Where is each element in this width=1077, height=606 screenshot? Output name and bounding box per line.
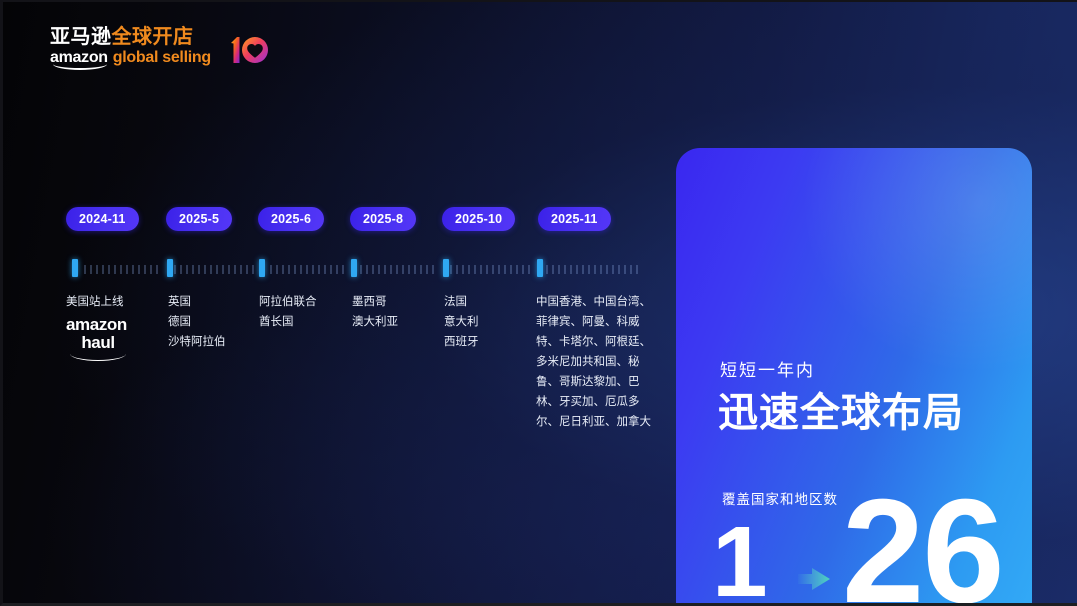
country-item: 美国站上线	[66, 292, 124, 312]
timeline-column-2025-6: 阿拉伯联合 酋长国	[259, 292, 317, 332]
ruler-tick	[498, 265, 500, 274]
timeline-column-2025-5: 英国 德国 沙特阿拉伯	[168, 292, 226, 352]
timeline-badge-2025-8[interactable]: 2025-8	[350, 207, 416, 231]
ruler-tick	[396, 265, 398, 274]
ruler-tick	[600, 265, 602, 274]
ruler-tick	[312, 265, 314, 274]
country-item: 酋长国	[259, 312, 317, 332]
ruler-tick	[486, 265, 488, 274]
arrow-right-svg	[796, 566, 832, 592]
ruler-tick	[414, 265, 416, 274]
timeline-badge-2025-10[interactable]: 2025-10	[442, 207, 515, 231]
ruler-tick	[552, 265, 554, 274]
ruler-tick	[84, 265, 86, 274]
ruler-tick	[318, 265, 320, 274]
ruler-tick	[120, 265, 122, 274]
ruler-tick	[426, 265, 428, 274]
timeline-column-2025-8: 墨西哥 澳大利亚	[352, 292, 398, 332]
ruler-tick	[474, 265, 476, 274]
ruler-tick	[132, 265, 134, 274]
ruler-tick	[594, 265, 596, 274]
arrow-right-icon	[796, 566, 832, 592]
ruler-tick	[210, 265, 212, 274]
country-item: 意大利	[444, 312, 479, 332]
ruler-tick	[300, 265, 302, 274]
ruler-tick	[432, 265, 434, 274]
ruler-tick	[96, 265, 98, 274]
ruler-tick	[618, 265, 620, 274]
ruler-tick	[570, 265, 572, 274]
ruler-tick	[102, 265, 104, 274]
ruler-tick	[564, 265, 566, 274]
timeline-badge-2024-11[interactable]: 2024-11	[66, 207, 139, 231]
ruler-tick	[198, 265, 200, 274]
country-item: 西班牙	[444, 332, 479, 352]
stat-value-from: 1	[712, 512, 768, 606]
timeline-badge-2025-6[interactable]: 2025-6	[258, 207, 324, 231]
ruler-tick	[246, 265, 248, 274]
ruler-tick	[546, 265, 548, 274]
ruler-tick	[408, 265, 410, 274]
ruler-tick	[372, 265, 374, 274]
timeline-column-2025-11: 中国香港、中国台湾、菲律宾、阿曼、科威特、卡塔尔、阿根廷、多米尼加共和国、秘鲁、…	[536, 292, 654, 432]
ruler-tick	[342, 265, 344, 274]
ruler-marker-2025-5[interactable]	[167, 259, 173, 277]
ruler-tick	[204, 265, 206, 274]
timeline-badge-2025-11[interactable]: 2025-11	[538, 207, 611, 231]
ruler-tick	[144, 265, 146, 274]
ruler-tick	[138, 265, 140, 274]
ruler-tick	[252, 265, 254, 274]
ruler-tick	[306, 265, 308, 274]
country-item: 英国	[168, 292, 226, 312]
ruler-tick	[114, 265, 116, 274]
timeline-ruler	[66, 259, 642, 277]
ruler-tick	[324, 265, 326, 274]
ruler-tick	[384, 265, 386, 274]
ruler-tick	[504, 265, 506, 274]
country-item: 墨西哥	[352, 292, 398, 312]
card-stat-row: 1 26	[676, 520, 1032, 606]
ruler-tick	[390, 265, 392, 274]
ruler-tick	[468, 265, 470, 274]
timeline-section: 2024-11 2025-5 2025-6 2025-8 2025-10 202…	[0, 0, 680, 606]
ruler-marker-2025-10[interactable]	[443, 259, 449, 277]
ruler-tick	[630, 265, 632, 274]
slide-canvas: 亚马逊全球开店 amazon global selling	[0, 0, 1077, 606]
ruler-tick	[636, 265, 638, 274]
ruler-marker-2025-6[interactable]	[259, 259, 265, 277]
ruler-tick	[378, 265, 380, 274]
ruler-tick	[222, 265, 224, 274]
country-item: 法国	[444, 292, 479, 312]
ruler-tick	[450, 265, 452, 274]
ruler-tick	[558, 265, 560, 274]
ruler-tick	[366, 265, 368, 274]
country-item: 德国	[168, 312, 226, 332]
ruler-tick	[186, 265, 188, 274]
ruler-tick	[462, 265, 464, 274]
ruler-tick	[216, 265, 218, 274]
ruler-tick	[516, 265, 518, 274]
ruler-tick	[528, 265, 530, 274]
ruler-marker-2024-11[interactable]	[72, 259, 78, 277]
ruler-tick	[282, 265, 284, 274]
ruler-tick	[276, 265, 278, 274]
haul-amazon-label: amazon	[66, 316, 130, 334]
ruler-tick	[576, 265, 578, 274]
ruler-tick	[174, 265, 176, 274]
ruler-tick	[612, 265, 614, 274]
ruler-tick	[294, 265, 296, 274]
haul-haul-label: haul	[66, 334, 130, 352]
ruler-tick	[588, 265, 590, 274]
timeline-column-2025-10: 法国 意大利 西班牙	[444, 292, 479, 352]
card-stat-label: 覆盖国家和地区数	[722, 488, 838, 508]
ruler-tick	[456, 265, 458, 274]
amazon-haul-logo: amazon haul	[66, 316, 130, 361]
ruler-tick	[492, 265, 494, 274]
ruler-tick	[330, 265, 332, 274]
ruler-marker-2025-11[interactable]	[537, 259, 543, 277]
card-headline: 迅速全球布局	[718, 380, 964, 438]
ruler-tick	[402, 265, 404, 274]
haul-smile-icon	[70, 353, 126, 361]
ruler-tick	[360, 265, 362, 274]
ruler-tick	[156, 265, 158, 274]
timeline-badge-2025-5[interactable]: 2025-5	[166, 207, 232, 231]
ruler-tick	[336, 265, 338, 274]
ruler-tick	[582, 265, 584, 274]
ruler-tick	[522, 265, 524, 274]
country-item: 阿拉伯联合	[259, 292, 317, 312]
ruler-tick	[510, 265, 512, 274]
ruler-tick	[180, 265, 182, 274]
ruler-tick	[108, 265, 110, 274]
ruler-tick	[90, 265, 92, 274]
ruler-marker-2025-8[interactable]	[351, 259, 357, 277]
ruler-tick	[624, 265, 626, 274]
ruler-tick	[150, 265, 152, 274]
ruler-tick	[606, 265, 608, 274]
ruler-tick	[288, 265, 290, 274]
ruler-tick	[192, 265, 194, 274]
card-kicker: 短短一年内	[720, 356, 815, 381]
ruler-tick	[234, 265, 236, 274]
ruler-tick	[126, 265, 128, 274]
stat-value-to: 26	[842, 478, 1003, 606]
ruler-tick	[270, 265, 272, 274]
timeline-column-2024-11: 美国站上线	[66, 292, 124, 312]
country-item: 沙特阿拉伯	[168, 332, 226, 352]
ruler-tick	[228, 265, 230, 274]
ruler-tick	[480, 265, 482, 274]
ruler-tick	[420, 265, 422, 274]
global-footprint-card: 短短一年内 迅速全球布局 覆盖国家和地区数 1 26	[676, 148, 1032, 606]
country-item: 澳大利亚	[352, 312, 398, 332]
ruler-tick	[240, 265, 242, 274]
